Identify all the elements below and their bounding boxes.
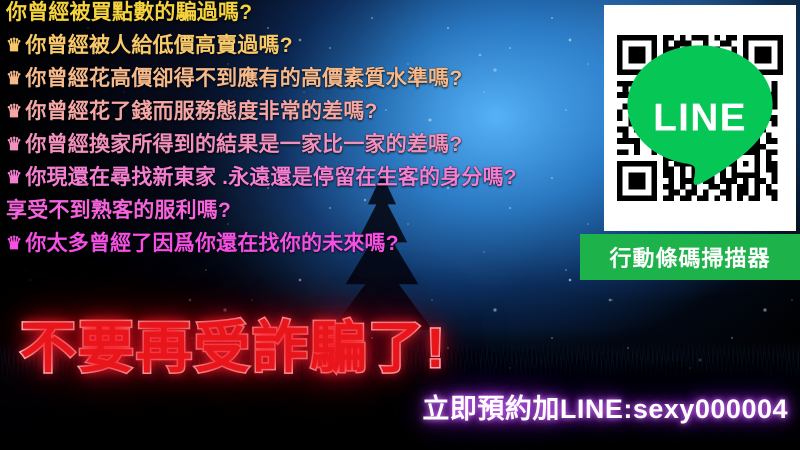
promo-line: ♛你曾經花了錢而服務態度非常的差嗎? bbox=[6, 101, 666, 122]
line-id-callout: 立即預約加LINE:sexy000004 bbox=[422, 387, 788, 426]
promo-line-text: 你曾經被人給低價高賣過嗎? bbox=[25, 35, 292, 56]
qr-code-image[interactable]: LINE bbox=[617, 35, 783, 201]
crown-bullet-icon: ♛ bbox=[6, 102, 22, 120]
qr-code-panel[interactable]: LINE bbox=[604, 5, 796, 231]
crown-bullet-icon: ♛ bbox=[6, 135, 22, 153]
promo-line: ♛你現還在尋找新東家 .永遠還是停留在生客的身分嗎? bbox=[6, 167, 666, 188]
barcode-scanner-button[interactable]: 行動條碼掃描器 bbox=[580, 234, 800, 280]
line-logo-icon: LINE bbox=[617, 35, 783, 201]
barcode-scanner-button-label: 行動條碼掃描器 bbox=[609, 241, 770, 273]
promo-line-text: 你現還在尋找新東家 .永遠還是停留在生客的身分嗎? bbox=[25, 167, 517, 188]
promo-line-text: 你曾經換家所得到的結果是一家比一家的差嗎? bbox=[25, 134, 462, 155]
headline-warning: 不要再受詐騙了! bbox=[20, 303, 447, 384]
promo-line-text: 你曾經花了錢而服務態度非常的差嗎? bbox=[25, 101, 377, 122]
promo-line: 你曾經被買點數的騙過嗎? bbox=[6, 2, 666, 23]
advertisement-banner: 你曾經被買點數的騙過嗎?♛你曾經被人給低價高賣過嗎?♛你曾經花高價卻得不到應有的… bbox=[0, 0, 800, 450]
crown-bullet-icon: ♛ bbox=[6, 36, 22, 54]
promo-line-text: 你太多曾經了因爲你還在找你的未來嗎? bbox=[25, 233, 398, 254]
promo-line: ♛你曾經花高價卻得不到應有的高價素質水準嗎? bbox=[6, 68, 666, 89]
crown-bullet-icon: ♛ bbox=[6, 234, 22, 252]
promo-line: ♛你曾經換家所得到的結果是一家比一家的差嗎? bbox=[6, 134, 666, 155]
promo-line: 享受不到熟客的服利嗎? bbox=[6, 200, 666, 221]
crown-bullet-icon: ♛ bbox=[6, 168, 22, 186]
promo-line-list: 你曾經被買點數的騙過嗎?♛你曾經被人給低價高賣過嗎?♛你曾經花高價卻得不到應有的… bbox=[6, 2, 666, 266]
crown-bullet-icon: ♛ bbox=[6, 69, 22, 87]
promo-line: ♛你太多曾經了因爲你還在找你的未來嗎? bbox=[6, 233, 666, 254]
promo-line-text: 你曾經花高價卻得不到應有的高價素質水準嗎? bbox=[25, 68, 462, 89]
promo-line: ♛你曾經被人給低價高賣過嗎? bbox=[6, 35, 666, 56]
svg-text:LINE: LINE bbox=[653, 97, 747, 140]
promo-line-text: 享受不到熟客的服利嗎? bbox=[6, 200, 231, 221]
promo-line-text: 你曾經被買點數的騙過嗎? bbox=[6, 2, 252, 23]
